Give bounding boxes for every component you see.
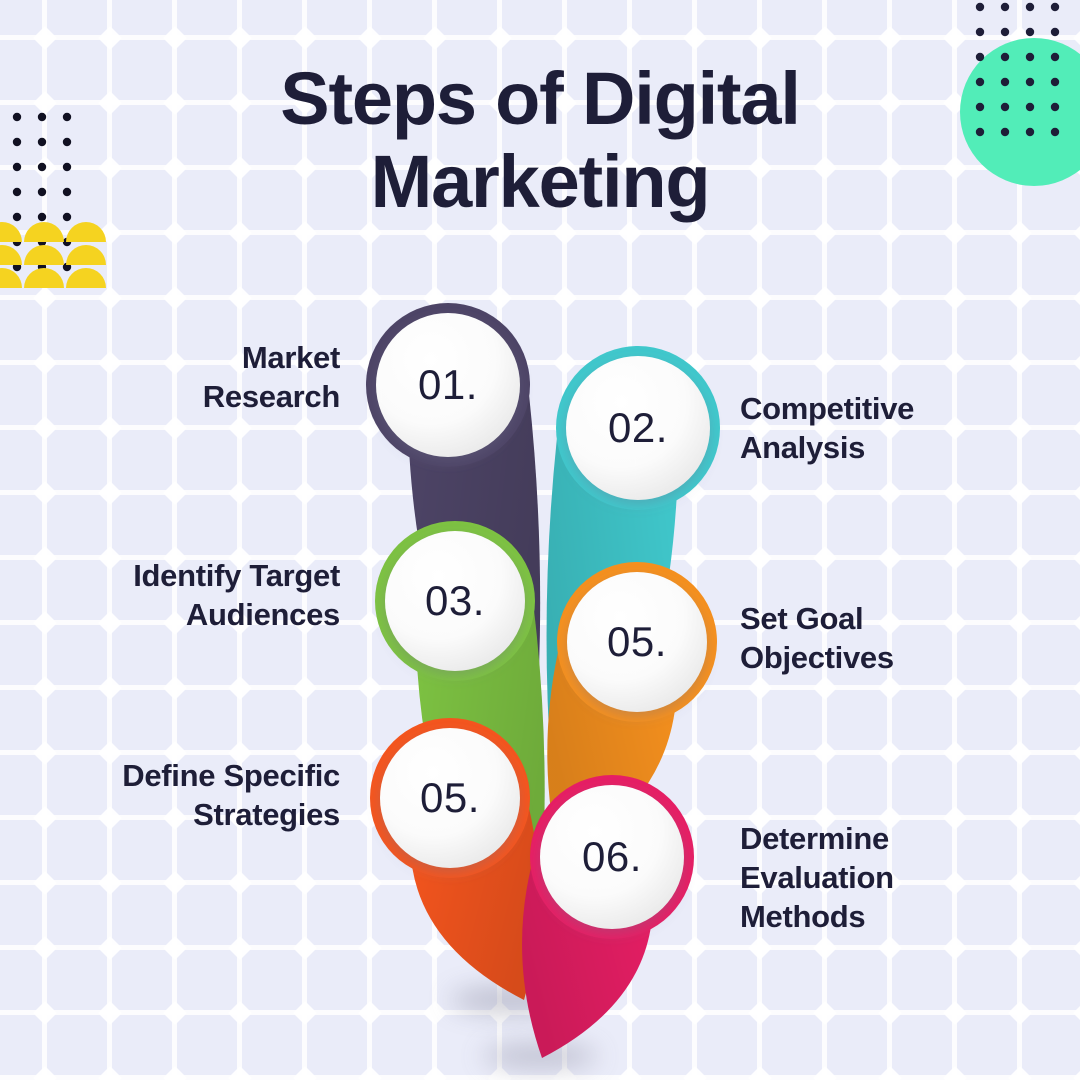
pin-number-4: 05. — [607, 618, 667, 665]
pin-number-1: 01. — [418, 361, 478, 408]
step-label-1: Market Research — [40, 339, 340, 417]
step-label-3: Identify Target Audiences — [40, 557, 340, 635]
pin-number-3: 03. — [425, 577, 485, 624]
step-label-6: Determine Evaluation Methods — [740, 820, 1060, 936]
step-label-2: Competitive Analysis — [740, 390, 1060, 468]
step-label-5: Define Specific Strategies — [40, 757, 340, 835]
pin-number-5: 05. — [420, 774, 480, 821]
pin-step-5[interactable]: 05. — [370, 718, 539, 1000]
pin-number-2: 02. — [608, 404, 668, 451]
infographic-canvas: Steps of Digital Marketing — [0, 0, 1080, 1080]
pin-number-6: 06. — [582, 833, 642, 880]
pin-step-6[interactable]: 06. — [522, 775, 694, 1058]
step-label-4: Set Goal Objectives — [740, 600, 1060, 678]
